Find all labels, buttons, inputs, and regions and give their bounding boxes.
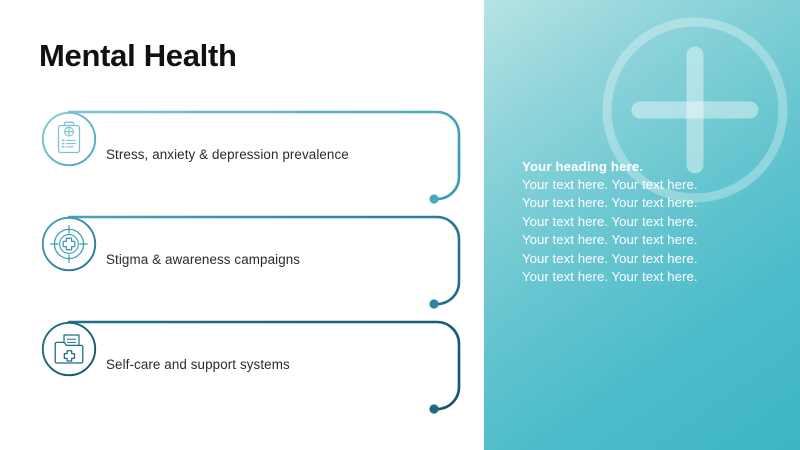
panel-body-line: Your text here. Your text here. [522,194,784,212]
panel-text-block: Your heading here. Your text here. Your … [522,158,784,286]
row-icon-3 [41,321,97,377]
folder-medical-records-icon [41,321,97,377]
panel-body-line: Your text here. Your text here. [522,250,784,268]
panel-heading: Your heading here. [522,158,784,175]
row-label-3: Self-care and support systems [106,357,290,372]
row-icon-2 [41,216,97,272]
panel-body-line: Your text here. Your text here. [522,268,784,286]
row-label-2: Stigma & awareness campaigns [106,252,300,267]
right-gradient-panel: Your heading here. Your text here. Your … [484,0,800,450]
target-crosshair-medical-icon [41,216,97,272]
panel-body-line: Your text here. Your text here. [522,231,784,249]
clipboard-medical-icon [41,111,97,167]
slide-canvas: Your heading here. Your text here. Your … [0,0,800,450]
panel-body-line: Your text here. Your text here. [522,176,784,194]
content-rows: Stress, anxiety & depression prevalence … [0,0,484,450]
row-label-1: Stress, anxiety & depression prevalence [106,147,349,162]
panel-body-line: Your text here. Your text here. [522,213,784,231]
row-icon-1 [41,111,97,167]
